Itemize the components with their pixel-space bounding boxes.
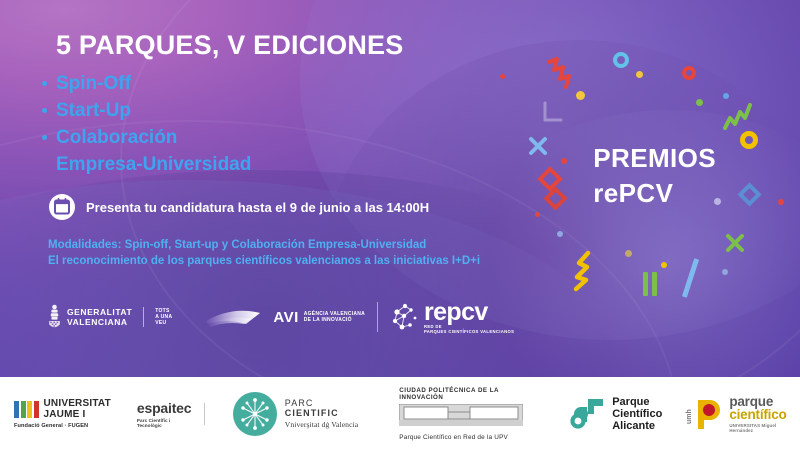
cpi-line-2: Parque Científico en Red de la UPV [399, 434, 543, 441]
alicante-line-3: Alicante [612, 420, 662, 432]
repcv-wordmark: repcv [424, 300, 514, 324]
repcv-network-icon [390, 302, 420, 332]
list-item-empresa-universidad: Empresa-Universidad [42, 151, 251, 178]
category-label: Start-Up [56, 97, 131, 124]
parc-cientific-text: PARC CIENTIFIC Vniverşitat dġ Valencia [285, 398, 369, 429]
avi-sub-line-2: DE LA INNOVACIÓ [304, 317, 365, 324]
espaitec-logo: espaitec Parc Científic i Tecnològic [137, 400, 205, 428]
deadline-row: Presenta tu candidatura hasta el 9 de ju… [48, 193, 429, 221]
espaitec-text: espaitec Parc Científic i Tecnològic [137, 400, 196, 428]
parc-cientific-uv-logo: PARC CIENTIFIC Vniverşitat dġ Valencia [233, 392, 369, 436]
award-title-line-2: rePCV [593, 178, 716, 209]
avi-subtitle: AGÈNCIA VALENCIANA DE LA INNOVACIÓ [304, 311, 365, 324]
list-item-spin-off: Spin-Off [42, 70, 251, 97]
bullet-icon [42, 108, 47, 113]
generalitat-crest-icon [48, 304, 61, 330]
category-label: Empresa-Universidad [56, 151, 251, 178]
parc-cientific-circle-icon [233, 392, 277, 436]
umh-parque-cientifico-logo: umh parque científico UNIVERSITAS Miguel… [684, 395, 800, 433]
repcv-text: repcv RED DE PARQUES CIENTÍFICOS VALENCI… [424, 300, 514, 335]
umh-line-1: parque [729, 395, 800, 408]
list-item-start-up: Start-Up [42, 97, 251, 124]
universitat-jaume-i-logo: UNIVERSITAT JAUME I Fundació General · F… [14, 398, 111, 429]
umh-line-2: científico [729, 408, 800, 421]
tagline-line-3: VEU [155, 320, 172, 326]
category-label: Spin-Off [56, 70, 131, 97]
generalitat-divider [143, 307, 144, 327]
award-title: PREMIOS rePCV [593, 143, 716, 209]
espaitec-rule [204, 403, 205, 425]
generalitat-tagline: TOTS A UNA VEU [155, 308, 172, 326]
uji-line-1: UNIVERSITAT [44, 398, 111, 409]
cpi-building-icon [399, 404, 523, 426]
ciudad-politecnica-innovacion-logo: CIUDAD POLITÉCNICA DE LA INNOVACIÓN Parq… [399, 387, 543, 441]
bullet-icon [42, 81, 47, 86]
uji-subtitle: Fundació General · FUGEN [14, 423, 111, 429]
subtitle-line-1: Modalidades: Spin-off, Start-up y Colabo… [48, 237, 480, 253]
umh-p-mark-icon: umh [684, 397, 724, 431]
bullet-icon [42, 135, 47, 140]
deadline-text: Presenta tu candidatura hasta el 9 de ju… [86, 200, 429, 215]
generalitat-line-2: VALENCIANA [67, 317, 132, 327]
avi-swoosh-icon [206, 304, 268, 330]
cpi-block: CIUDAD POLITÉCNICA DE LA INNOVACIÓN Parq… [399, 387, 543, 441]
award-title-line-1: PREMIOS [593, 143, 716, 173]
alicante-line-1: Parque [612, 396, 662, 408]
list-item-colaboracion: Colaboración [42, 124, 251, 151]
espaitec-subtitle: Parc Científic i Tecnològic [137, 418, 196, 428]
parque-cientifico-alicante-logo: Parque Científico Alicante [569, 396, 662, 432]
uji-line-2: JAUME I [44, 409, 111, 420]
parc-cientific-line-1: PARC CIENTIFIC [285, 398, 369, 418]
avi-logo: AVI AGÈNCIA VALENCIANA DE LA INNOVACIÓ [206, 304, 365, 330]
alicante-line-2: Científico [612, 408, 662, 420]
subtitle-block: Modalidades: Spin-off, Start-up y Colabo… [48, 237, 480, 269]
avi-acronym: AVI [273, 309, 298, 326]
sponsor-strip: GENERALITAT VALENCIANA TOTS A UNA VEU [48, 300, 514, 335]
subtitle-line-2: El reconocimiento de los parques científ… [48, 253, 480, 269]
page-title: 5 PARQUES, V EDICIONES [56, 30, 403, 61]
uji-text: UNIVERSITAT JAUME I [44, 398, 111, 420]
repcv-logo: repcv RED DE PARQUES CIENTÍFICOS VALENCI… [390, 300, 514, 335]
promotional-poster: 5 PARQUES, V EDICIONES Spin-Off Start-Up… [0, 0, 800, 450]
uji-block: UNIVERSITAT JAUME I Fundació General · F… [14, 398, 111, 429]
umh-text: parque científico UNIVERSITAS Miguel Her… [729, 395, 800, 433]
footer-logo-bar: UNIVERSITAT JAUME I Fundació General · F… [0, 377, 800, 450]
sponsor-divider [377, 302, 378, 332]
category-list: Spin-Off Start-Up Colaboración Empresa-U… [42, 70, 251, 178]
alicante-text: Parque Científico Alicante [612, 396, 662, 432]
generalitat-valenciana-logo: GENERALITAT VALENCIANA TOTS A UNA VEU [48, 304, 172, 330]
espaitec-wordmark: espaitec [137, 400, 196, 416]
svg-text:umh: umh [686, 409, 693, 424]
category-label: Colaboración [56, 124, 177, 151]
cpi-line-1: CIUDAD POLITÉCNICA DE LA INNOVACIÓN [399, 387, 543, 401]
repcv-sub-line-2: PARQUES CIENTÍFICOS VALENCIANOS [424, 329, 514, 334]
generalitat-text: GENERALITAT VALENCIANA [67, 307, 132, 327]
umh-line-3: UNIVERSITAS Miguel Hernández [729, 423, 800, 433]
parc-cientific-line-2: Vniverşitat dġ Valencia [285, 420, 369, 429]
uji-bars-icon [14, 401, 39, 418]
generalitat-line-1: GENERALITAT [67, 307, 132, 317]
alicante-note-icon [569, 397, 605, 431]
bullet-spacer-icon [42, 162, 47, 167]
calendar-icon [48, 193, 76, 221]
